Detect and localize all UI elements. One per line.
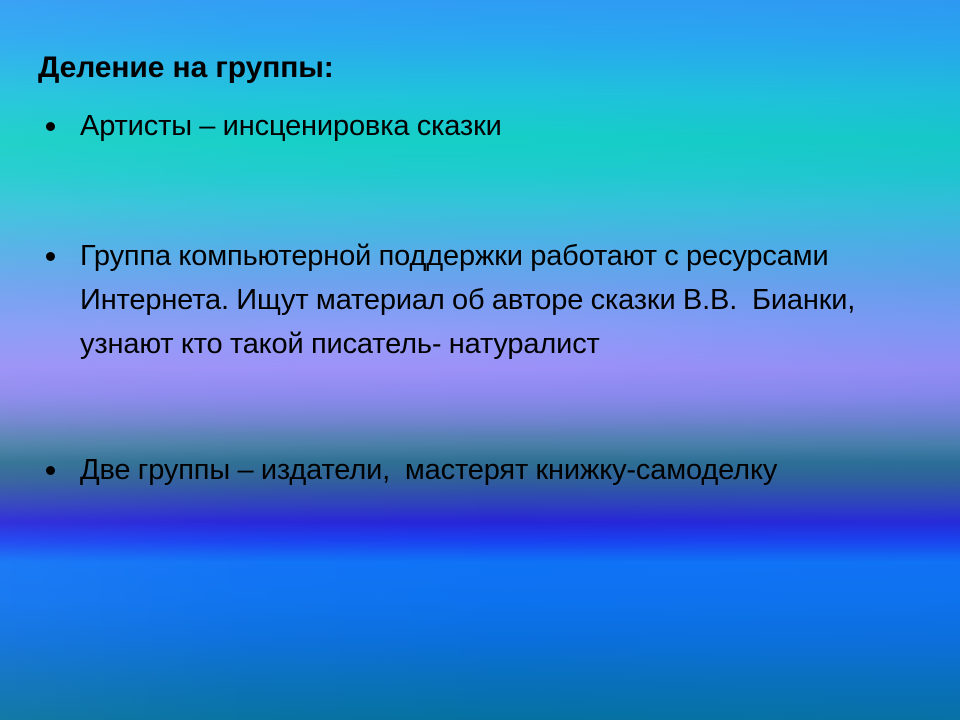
bullet-dot-icon bbox=[46, 466, 55, 475]
bullet-dot-icon bbox=[46, 122, 55, 131]
bullet-dot-icon bbox=[46, 252, 55, 261]
presentation-slide: Деление на группы: Артисты – инсценировк… bbox=[0, 0, 960, 720]
list-item: Группа компьютерной поддержки работают с… bbox=[38, 234, 938, 366]
bullet-text: Две группы – издатели, мастерят книжку-с… bbox=[80, 448, 938, 492]
bullet-text: Артисты – инсценировка сказки bbox=[80, 104, 938, 148]
bullet-list: Артисты – инсценировка сказки Группа ком… bbox=[38, 104, 938, 492]
bullet-text: Группа компьютерной поддержки работают с… bbox=[80, 234, 938, 366]
list-item: Артисты – инсценировка сказки bbox=[38, 104, 938, 148]
slide-content: Деление на группы: Артисты – инсценировк… bbox=[0, 0, 960, 720]
list-item: Две группы – издатели, мастерят книжку-с… bbox=[38, 448, 938, 492]
slide-title: Деление на группы: bbox=[38, 50, 334, 85]
